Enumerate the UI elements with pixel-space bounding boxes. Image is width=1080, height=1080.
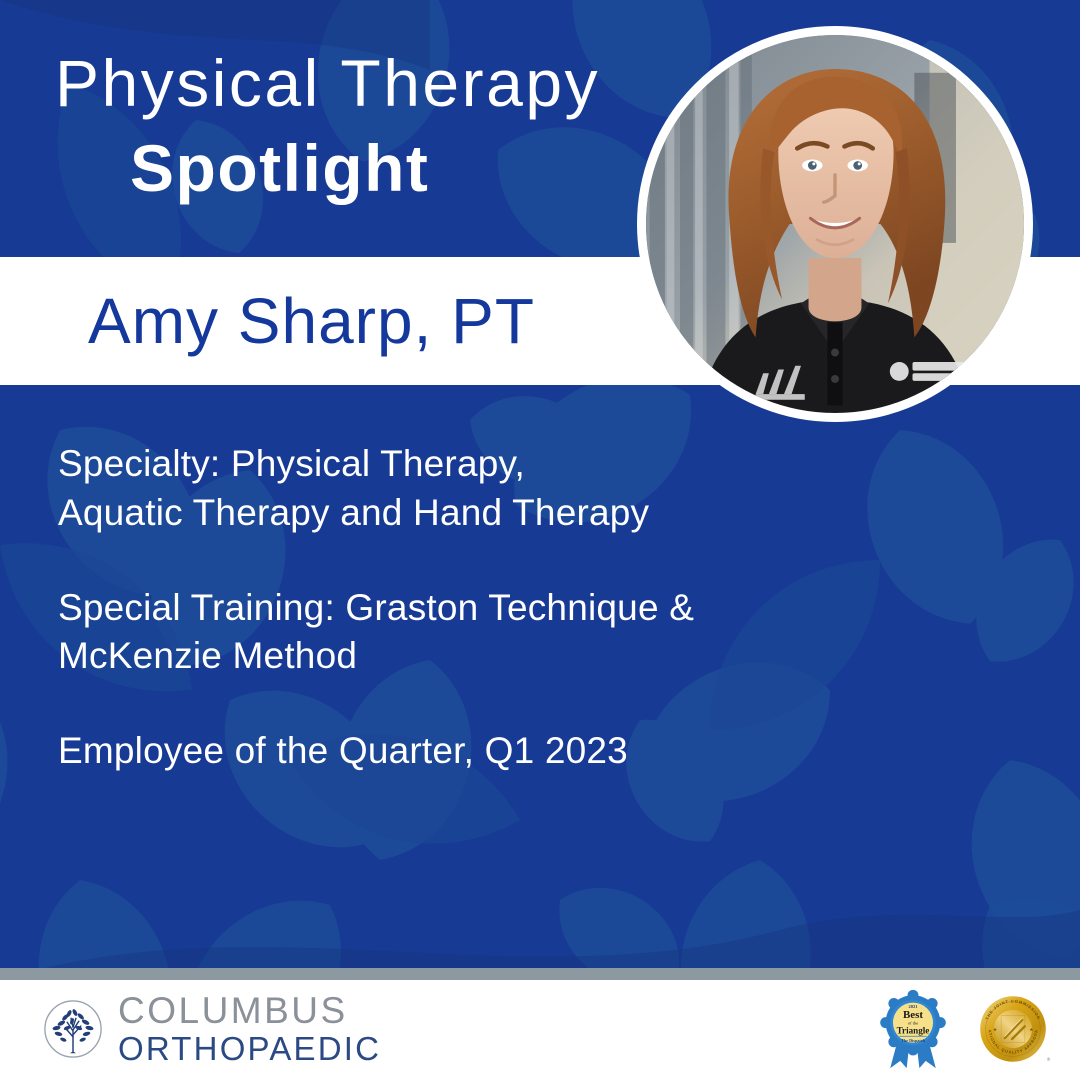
- special-training-line-1: Special Training: Graston Technique &: [58, 584, 848, 633]
- special-training-line-2: McKenzie Method: [58, 632, 848, 681]
- best-of-the-triangle-badge: 2021 Best of the Triangle The Dispatch: [872, 988, 954, 1070]
- award-badges: 2021 Best of the Triangle The Dispatch: [872, 988, 1054, 1070]
- portrait-photo: [646, 35, 1024, 413]
- joint-commission-badge: THE JOINT COMMISSION NATIONAL QUALITY AP…: [972, 988, 1054, 1070]
- special-training-paragraph: Special Training: Graston Technique & Mc…: [58, 584, 848, 682]
- ribbon-award-icon: 2021 Best of the Triangle The Dispatch: [872, 988, 954, 1070]
- page-title-line1: Physical Therapy: [55, 50, 600, 116]
- svg-text:The Dispatch: The Dispatch: [901, 1038, 926, 1043]
- brand-wordmark: COLUMBUS ORTHOPAEDIC: [118, 992, 381, 1065]
- spotlight-poster: Physical Therapy Spotlight Amy Sharp, PT: [0, 0, 1080, 1080]
- body-copy: Specialty: Physical Therapy, Aquatic The…: [58, 440, 848, 776]
- registered-mark: ®: [1047, 1056, 1051, 1062]
- gold-seal-icon: THE JOINT COMMISSION NATIONAL QUALITY AP…: [972, 988, 1054, 1070]
- brand-name-bottom: ORTHOPAEDIC: [118, 1032, 381, 1065]
- specialty-paragraph: Specialty: Physical Therapy, Aquatic The…: [58, 440, 848, 538]
- svg-text:Triangle: Triangle: [897, 1026, 930, 1036]
- tree-in-circle-icon: [42, 998, 104, 1060]
- svg-text:Best: Best: [903, 1009, 923, 1021]
- footer-divider: [0, 968, 1080, 980]
- brand-name-top: COLUMBUS: [118, 992, 381, 1029]
- specialty-line-2: Aquatic Therapy and Hand Therapy: [58, 489, 848, 538]
- brand-logo: COLUMBUS ORTHOPAEDIC: [42, 992, 381, 1065]
- person-name: Amy Sharp, PT: [88, 283, 535, 360]
- award-paragraph: Employee of the Quarter, Q1 2023: [58, 727, 848, 776]
- avatar: [637, 26, 1033, 422]
- page-title-line2: Spotlight: [130, 135, 429, 201]
- footer: COLUMBUS ORTHOPAEDIC: [0, 980, 1080, 1080]
- specialty-line-1: Specialty: Physical Therapy,: [58, 440, 848, 489]
- award-line-1: Employee of the Quarter, Q1 2023: [58, 727, 848, 776]
